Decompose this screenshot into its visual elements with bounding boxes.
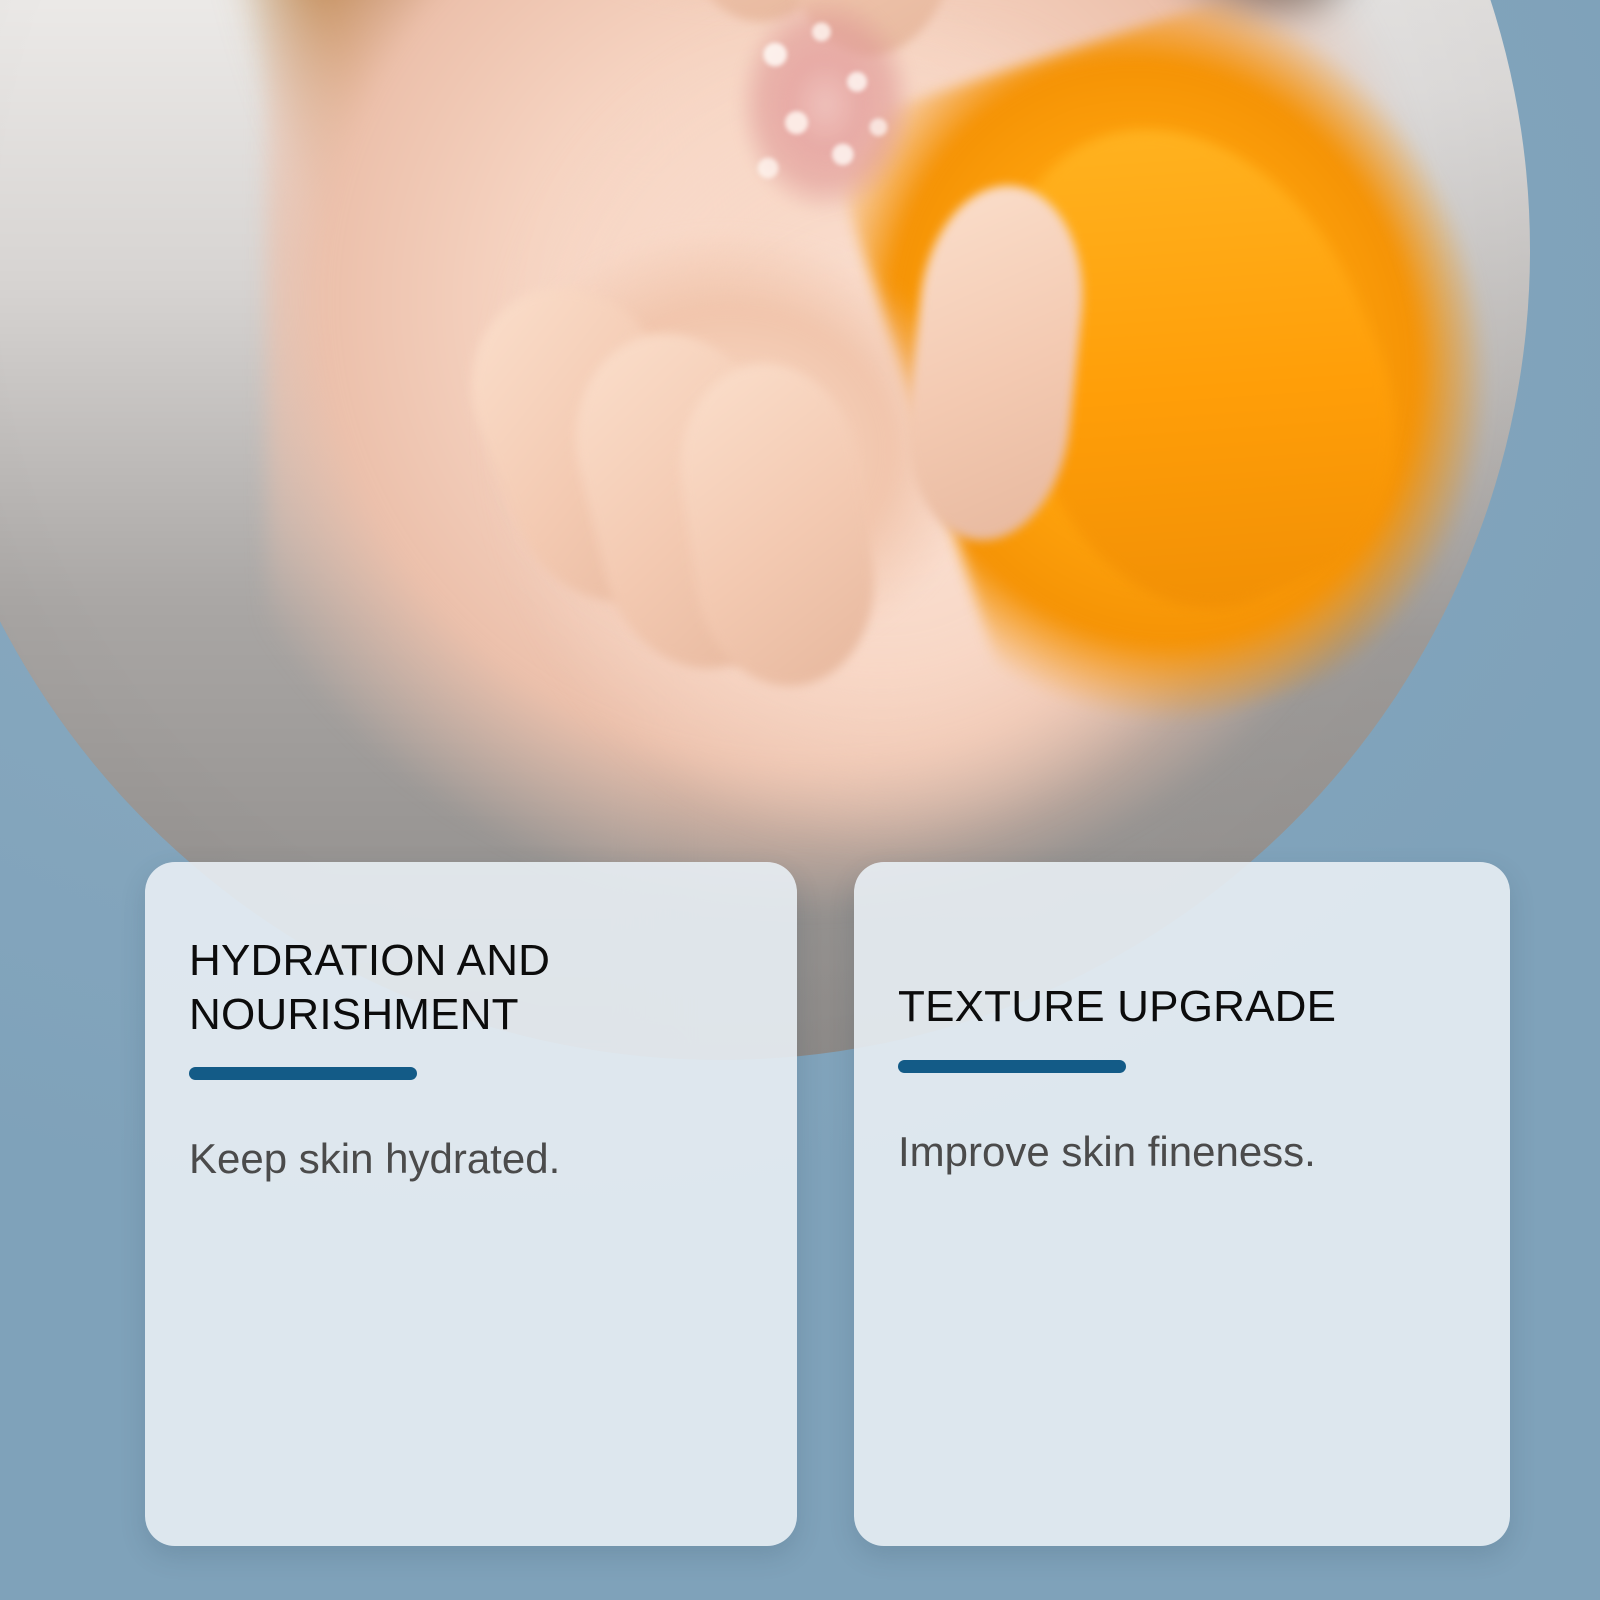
feature-card-texture: TEXTURE UPGRADE Improve skin fineness. [854, 862, 1510, 1546]
feature-card-title: TEXTURE UPGRADE [898, 934, 1466, 1034]
feature-card-body: Improve skin fineness. [898, 1073, 1466, 1180]
feature-card-accent-bar [898, 1060, 1126, 1073]
feature-card-title: HYDRATION AND NOURISHMENT [189, 934, 753, 1041]
feature-card-accent-bar [189, 1067, 417, 1080]
poster-canvas: HYDRATION AND NOURISHMENT Keep skin hydr… [0, 0, 1600, 1600]
feature-card-body: Keep skin hydrated. [189, 1080, 753, 1187]
feature-card-hydration: HYDRATION AND NOURISHMENT Keep skin hydr… [145, 862, 797, 1546]
